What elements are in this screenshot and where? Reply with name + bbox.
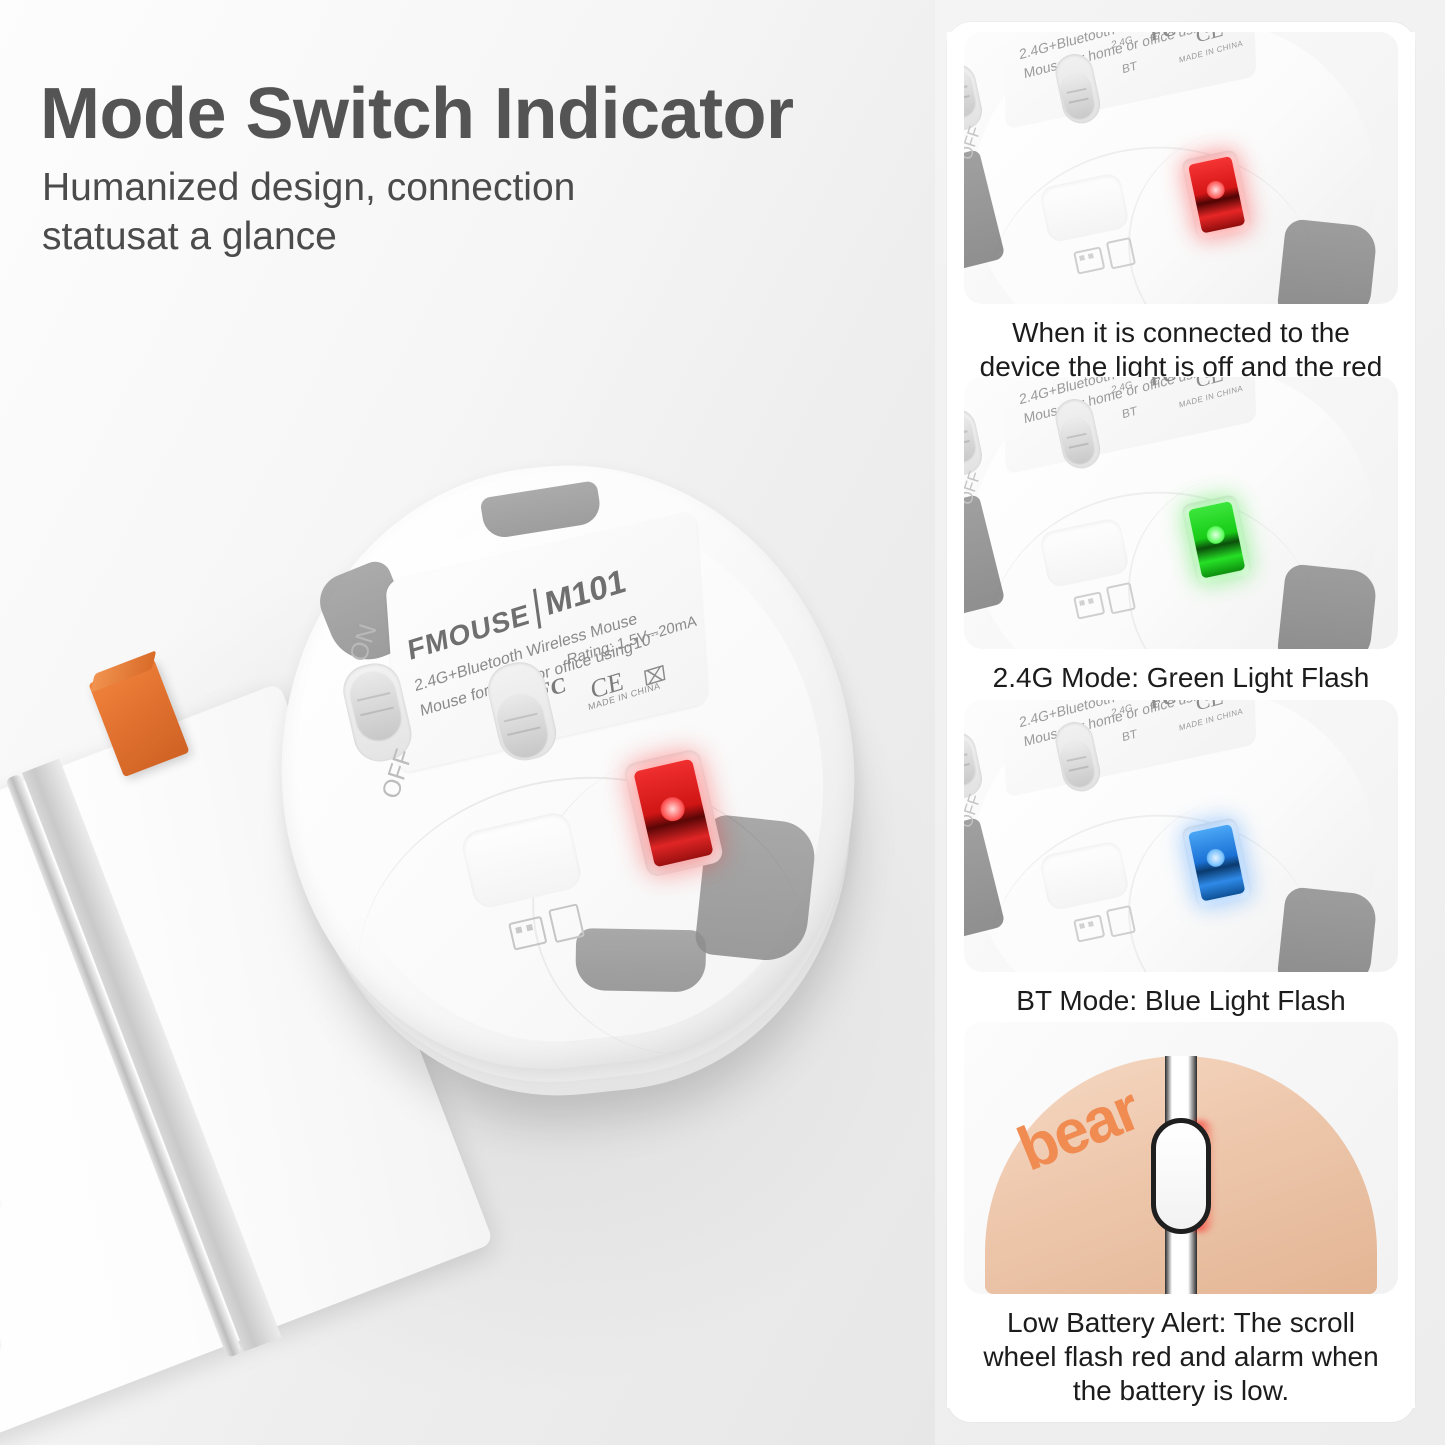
mouse-top-view: bear xyxy=(985,1056,1377,1294)
bear-branding-text: bear xyxy=(1008,1074,1149,1186)
mouse-underside: FMOUSE M101 2.4G+Bluetooth Wireless Mous… xyxy=(244,425,908,1124)
panel-low-battery: bear Low Battery Alert: The scroll wheel… xyxy=(947,1022,1415,1408)
panel-caption-blue: BT Mode: Blue Light Flash xyxy=(969,984,1393,1018)
mini-band-bt-mark: BT xyxy=(1122,403,1138,421)
mouse-underside-mini-green: 2.4G+Bluetooth Wireless Mouse Mouse for … xyxy=(964,377,1398,649)
mouse-body: FMOUSE M101 2.4G+Bluetooth Wireless Mous… xyxy=(251,438,883,1095)
infographic-stage: ter turn shift ▶ xyxy=(0,0,1445,1445)
panel-mode-bt-blue: 2.4G+Bluetooth Wireless Mouse Mouse for … xyxy=(947,700,1415,1018)
mini-fcc-mark-icon: FC xyxy=(1150,377,1178,392)
mini-band-bt-mark: BT xyxy=(1122,58,1138,76)
led-emitter-dot xyxy=(658,795,687,824)
mouse-underside-mini-red: 2.4G+Bluetooth Wireless Mouse Mouse for … xyxy=(964,32,1398,304)
mini-led-green-glow xyxy=(1188,501,1246,579)
feature-panel-rail: 2.4G+Bluetooth Wireless Mouse Mouse for … xyxy=(947,22,1415,1422)
panel-mode-24g-green: 2.4G+Bluetooth Wireless Mouse Mouse for … xyxy=(947,377,1415,695)
mini-led-emitter-dot xyxy=(1205,847,1226,868)
panel-photo-blue: 2.4G+Bluetooth Wireless Mouse Mouse for … xyxy=(964,700,1398,972)
panel-caption-low-battery: Low Battery Alert: The scroll wheel flas… xyxy=(969,1306,1393,1408)
rohs-mark-icon: 10 xyxy=(632,631,652,654)
mouse-underside-mini-blue: 2.4G+Bluetooth Wireless Mouse Mouse for … xyxy=(964,700,1398,972)
panel-photo-red: 2.4G+Bluetooth Wireless Mouse Mouse for … xyxy=(964,32,1398,304)
mini-led-red-glow xyxy=(1188,156,1246,234)
mini-led-blue-glow xyxy=(1188,824,1246,902)
model-number: M101 xyxy=(543,561,628,623)
panel-caption-green: 2.4G Mode: Green Light Flash xyxy=(969,661,1393,695)
mini-fcc-mark-icon: FC xyxy=(1150,700,1178,715)
mini-led-emitter-dot xyxy=(1205,179,1226,200)
page-title: Mode Switch Indicator xyxy=(40,78,920,150)
scroll-wheel xyxy=(1151,1118,1211,1234)
led-red-glow xyxy=(633,759,714,868)
panel-photo-low-battery: bear xyxy=(964,1022,1398,1294)
brand-divider xyxy=(533,588,541,629)
page-subtitle: Humanized design, connection statusat a … xyxy=(42,164,722,262)
mini-band-bt-mark: BT xyxy=(1122,726,1138,744)
mini-fcc-mark-icon: FC xyxy=(1150,32,1178,47)
panel-connected-red: 2.4G+Bluetooth Wireless Mouse Mouse for … xyxy=(947,32,1415,418)
headline-block: Mode Switch Indicator Humanized design, … xyxy=(40,78,920,262)
panel-photo-green: 2.4G+Bluetooth Wireless Mouse Mouse for … xyxy=(964,377,1398,649)
hero-section: ter turn shift ▶ xyxy=(0,0,935,1445)
mini-led-emitter-dot xyxy=(1205,524,1226,545)
